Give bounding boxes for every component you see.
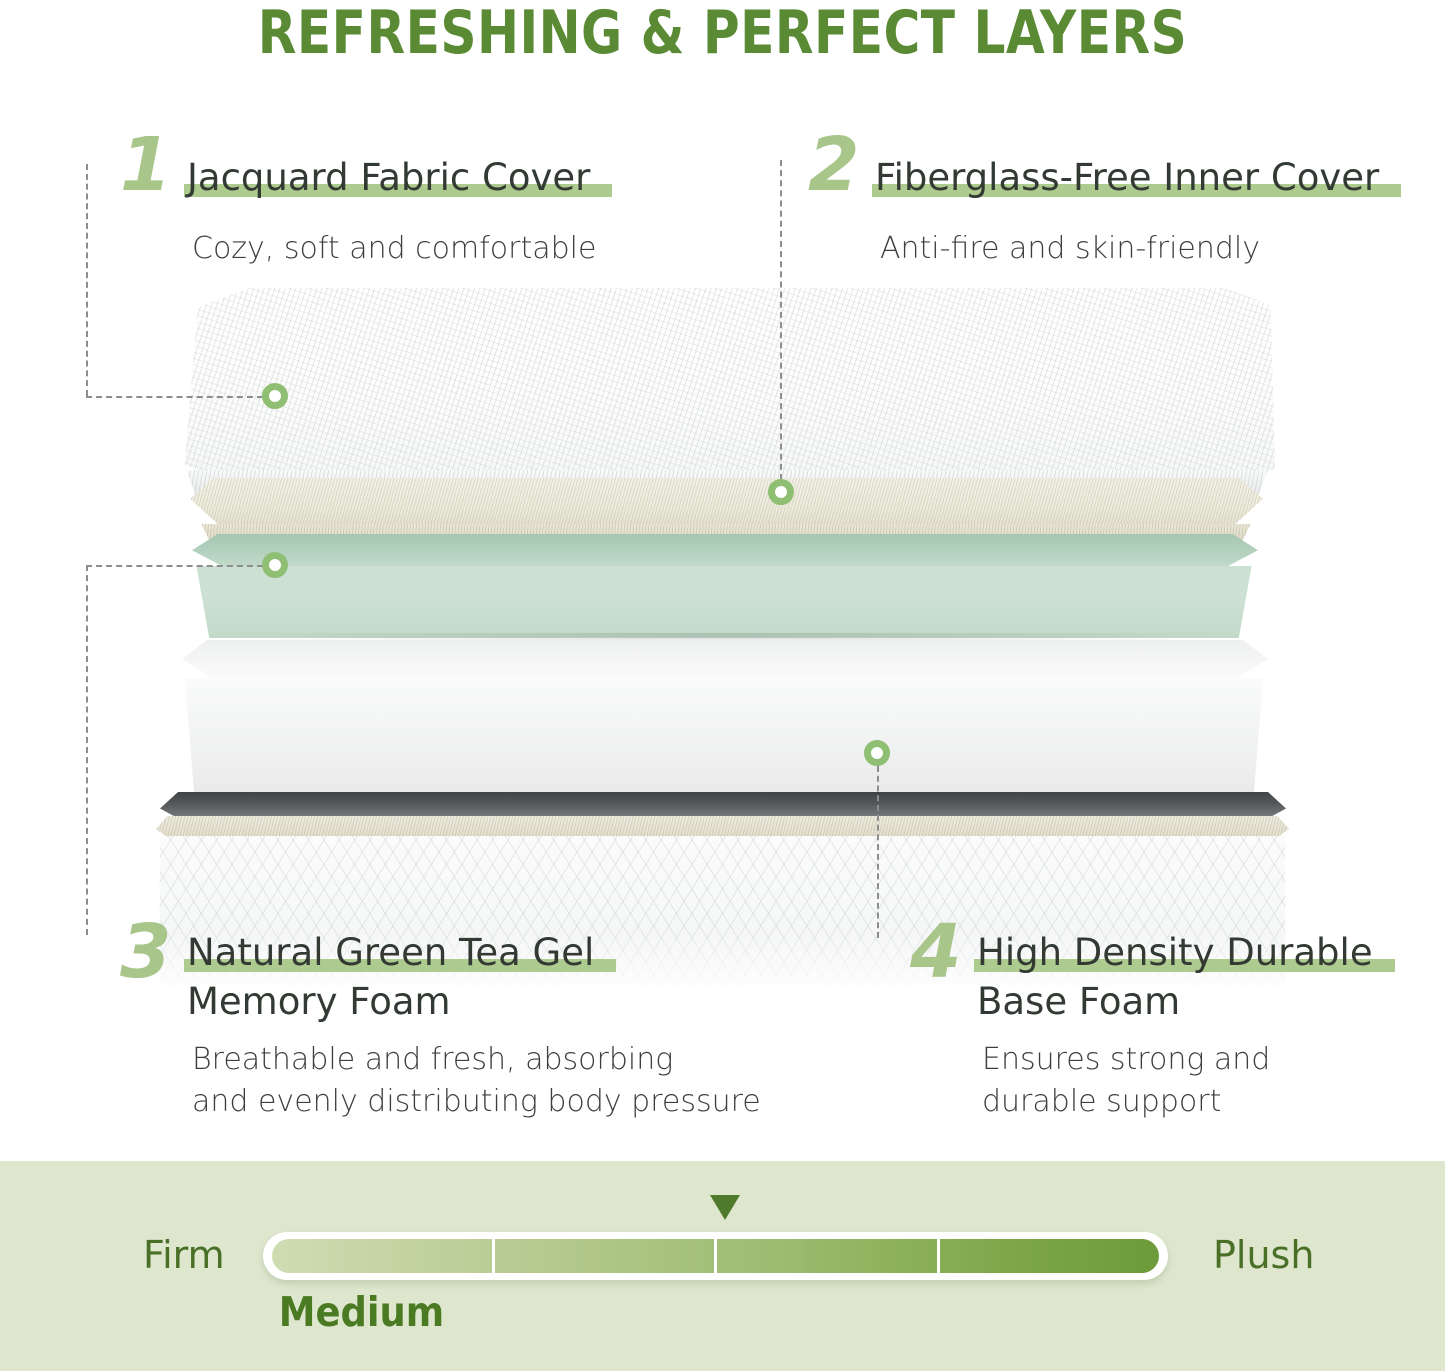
leader-line-3-horizontal [86, 565, 263, 567]
firmness-marker-triangle-icon [710, 1195, 740, 1220]
product-layers-infographic: REFRESHING & PERFECT LAYERS 1 Jacquard [0, 0, 1445, 1371]
callout-2-number: 2 [808, 128, 860, 202]
callout-4-title-line2: Base Foam [977, 977, 1373, 1027]
callout-3-description-line1: Breathable and fresh, absorbing [192, 1039, 673, 1081]
layer-base-foam-edge [178, 678, 1270, 808]
callout-marker-2 [768, 479, 794, 505]
callout-1-description: Cozy, soft and comfortable [192, 228, 596, 270]
firmness-segment-2 [495, 1239, 718, 1273]
firmness-segment-4 [940, 1239, 1160, 1273]
callout-marker-1 [262, 383, 288, 409]
leader-line-1-vertical [86, 164, 88, 396]
page-title: REFRESHING & PERFECT LAYERS [51, 0, 1395, 68]
firmness-segment-1 [272, 1239, 495, 1273]
callout-1-number: 1 [120, 128, 172, 202]
leader-line-2-vertical [780, 160, 782, 480]
callout-4-number: 4 [910, 915, 962, 989]
firmness-label-plush: Plush [1213, 1233, 1314, 1277]
layer-jacquard-fabric-cover-top [178, 288, 1275, 480]
callout-marker-4 [864, 740, 890, 766]
firmness-label-firm: Firm [143, 1233, 225, 1277]
callout-3-description-line2: and evenly distributing body pressure [192, 1081, 761, 1123]
layer-base-foam-top [182, 640, 1268, 682]
firmness-current-value: Medium [0, 1288, 1445, 1336]
layer-inner-cover-top [190, 478, 1263, 530]
callout-1: 1 Jacquard Fabric Cover Cozy, soft and c… [120, 128, 760, 288]
leader-line-3-vertical [86, 565, 88, 935]
callout-3: 3 Natural Green Tea Gel Memory Foam Brea… [120, 915, 840, 1135]
callout-marker-3 [262, 552, 288, 578]
callout-4-description-line1: Ensures strong and [982, 1039, 1270, 1081]
layer-green-tea-memory-foam-top [192, 534, 1258, 570]
callout-3-title: Natural Green Tea Gel [187, 929, 594, 977]
callout-4: 4 High Density Durable Base Foam Ensures… [910, 915, 1430, 1135]
callout-2: 2 Fiberglass-Free Inner Cover Anti-fire … [808, 128, 1445, 288]
callout-1-title: Jacquard Fabric Cover [187, 154, 590, 202]
callout-3-number: 3 [120, 915, 172, 989]
callout-2-title: Fiberglass-Free Inner Cover [875, 154, 1379, 202]
callout-4-description-line2: durable support [982, 1081, 1221, 1123]
leader-line-1-horizontal [86, 396, 263, 398]
firmness-scale-bar[interactable] [263, 1232, 1168, 1280]
firmness-scale-bar-track [272, 1239, 1159, 1273]
callout-2-description: Anti-fire and skin-friendly [880, 228, 1260, 270]
callout-3-title-line2: Memory Foam [187, 977, 594, 1027]
leader-line-4-vertical [877, 766, 879, 938]
layer-green-tea-memory-foam-edge [190, 566, 1258, 638]
callout-4-title: High Density Durable [977, 929, 1373, 977]
firmness-segment-3 [717, 1239, 940, 1273]
